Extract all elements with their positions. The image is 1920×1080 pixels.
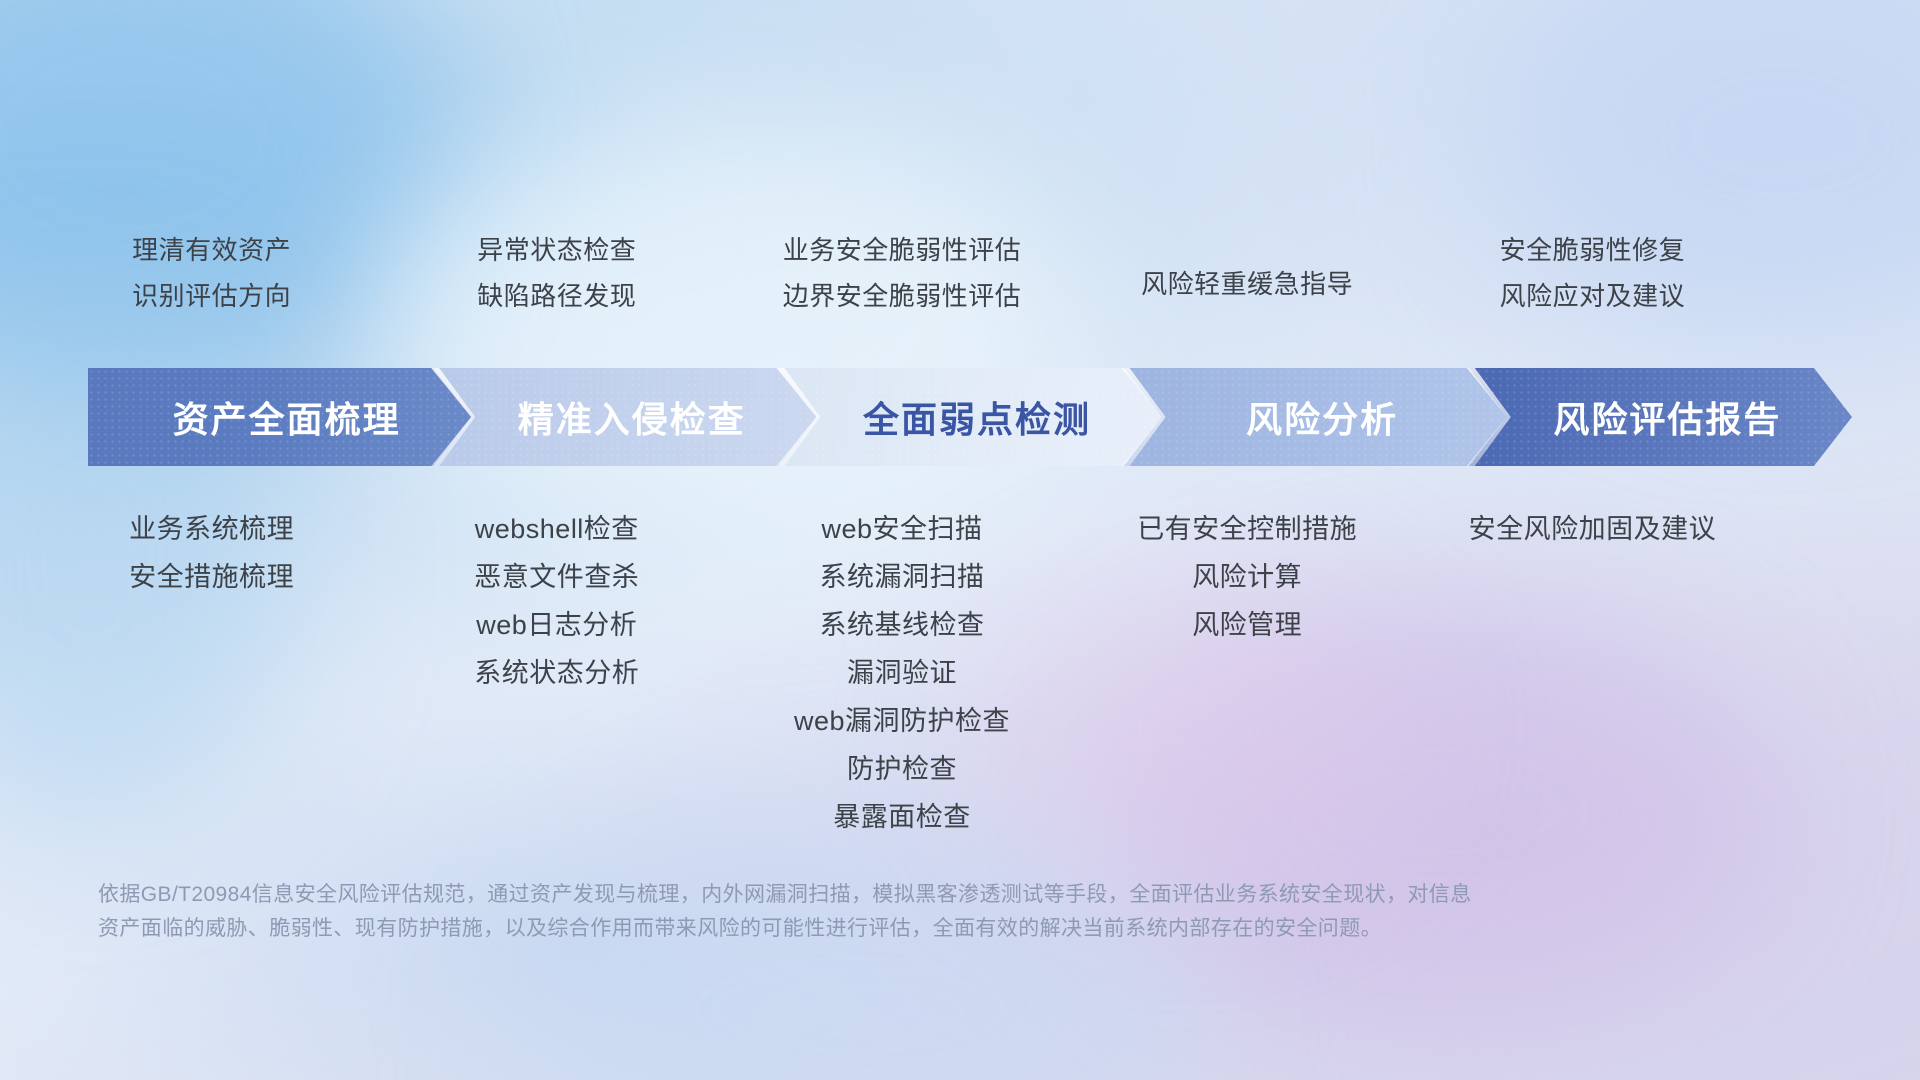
list-item: 安全措施梳理 — [20, 560, 403, 594]
process-step-intrusion-check[interactable]: 精准入侵检查 — [433, 368, 816, 466]
list-item: web漏洞防护检查 — [710, 704, 1093, 738]
stage-top-list: 安全脆弱性修复风险应对及建议 — [1401, 233, 1784, 313]
footer-line-2: 资产面临的威胁、脆弱性、现有防护措施，以及综合作用而带来风险的可能性进行评估，全… — [98, 912, 1638, 946]
process-step-label: 风险分析 — [1232, 391, 1398, 443]
process-step-asset-inventory[interactable]: 资产全面梳理 — [88, 368, 471, 466]
process-step-label: 全面弱点检测 — [849, 391, 1091, 443]
list-item: 防护检查 — [710, 752, 1093, 786]
list-item: 安全风险加固及建议 — [1401, 512, 1784, 546]
list-item: web日志分析 — [365, 608, 748, 642]
stage-bottom-list: 安全风险加固及建议 — [1401, 512, 1784, 546]
stage-top-list: 理清有效资产识别评估方向 — [20, 233, 403, 313]
list-item: 已有安全控制措施 — [1056, 512, 1439, 546]
list-item: webshell检查 — [365, 512, 748, 546]
process-step-label: 精准入侵检查 — [504, 391, 746, 443]
process-step-weakness-detection[interactable]: 全面弱点检测 — [778, 368, 1161, 466]
list-item: 漏洞验证 — [710, 656, 1093, 690]
list-item: 安全脆弱性修复 — [1401, 233, 1784, 267]
stage-top-list: 异常状态检查缺陷路径发现 — [365, 233, 748, 313]
stage-bottom-list: 业务系统梳理安全措施梳理 — [20, 512, 403, 594]
stage-bottom-list: webshell检查恶意文件查杀web日志分析系统状态分析 — [365, 512, 748, 690]
stage-top-list: 风险轻重缓急指导 — [1056, 267, 1439, 301]
slide-canvas: 理清有效资产识别评估方向业务系统梳理安全措施梳理异常状态检查缺陷路径发现webs… — [0, 0, 1920, 1080]
list-item: 暴露面检查 — [710, 800, 1093, 834]
footer-line-1: 依据GB/T20984信息安全风险评估规范，通过资产发现与梳理，内外网漏洞扫描，… — [98, 878, 1638, 912]
list-item: 系统漏洞扫描 — [710, 560, 1093, 594]
list-item: 识别评估方向 — [20, 279, 403, 313]
list-item: 业务系统梳理 — [20, 512, 403, 546]
list-item: 风险轻重缓急指导 — [1056, 267, 1439, 301]
list-item: web安全扫描 — [710, 512, 1093, 546]
stage-bottom-list: web安全扫描系统漏洞扫描系统基线检查漏洞验证web漏洞防护检查防护检查暴露面检… — [710, 512, 1093, 834]
process-step-label: 资产全面梳理 — [159, 391, 401, 443]
list-item: 理清有效资产 — [20, 233, 403, 267]
stage-bottom-list: 已有安全控制措施风险计算风险管理 — [1056, 512, 1439, 642]
list-item: 业务安全脆弱性评估 — [710, 233, 1093, 267]
process-step-risk-analysis[interactable]: 风险分析 — [1124, 368, 1507, 466]
list-item: 缺陷路径发现 — [365, 279, 748, 313]
process-step-label: 风险评估报告 — [1539, 391, 1781, 443]
list-item: 风险应对及建议 — [1401, 279, 1784, 313]
list-item: 系统基线检查 — [710, 608, 1093, 642]
stage-top-list: 业务安全脆弱性评估边界安全脆弱性评估 — [710, 233, 1093, 313]
process-step-risk-report[interactable]: 风险评估报告 — [1469, 368, 1852, 466]
list-item: 边界安全脆弱性评估 — [710, 279, 1093, 313]
list-item: 系统状态分析 — [365, 656, 748, 690]
list-item: 恶意文件查杀 — [365, 560, 748, 594]
process-chevron-band: 资产全面梳理精准入侵检查全面弱点检测风险分析风险评估报告 — [88, 368, 1852, 466]
list-item: 异常状态检查 — [365, 233, 748, 267]
list-item: 风险管理 — [1056, 608, 1439, 642]
list-item: 风险计算 — [1056, 560, 1439, 594]
footer-description: 依据GB/T20984信息安全风险评估规范，通过资产发现与梳理，内外网漏洞扫描，… — [98, 878, 1638, 946]
